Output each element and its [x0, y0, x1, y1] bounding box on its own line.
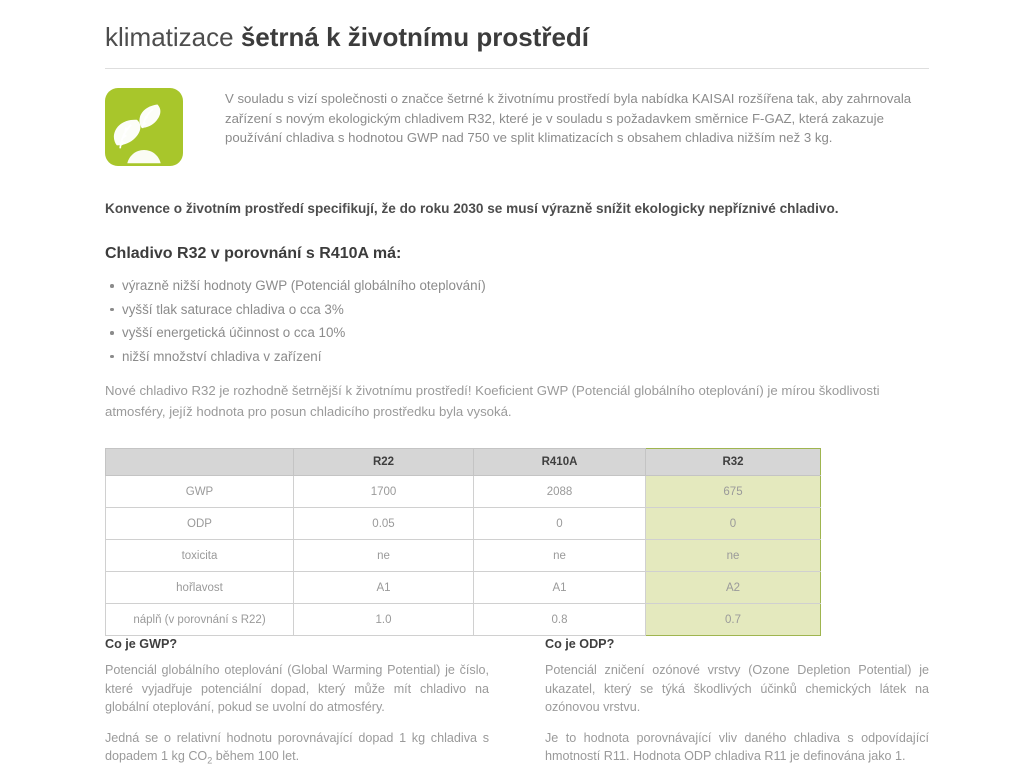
page-root: klimatizace šetrná k životnímu prostředí…: [0, 0, 1024, 768]
convention-statement: Konvence o životním prostředí specifikuj…: [105, 199, 929, 219]
page-header: klimatizace šetrná k životnímu prostředí: [105, 20, 929, 54]
cell-r22: 1700: [294, 476, 474, 508]
page-title-light: klimatizace: [105, 22, 241, 52]
page-title-bold: šetrná k životnímu prostředí: [241, 22, 589, 52]
leaf-icon: [105, 88, 183, 166]
definition-p2-pre: Je to hodnota porovnávající vliv daného …: [545, 731, 929, 764]
cell-r32: 0.7: [646, 604, 821, 636]
list-item: výrazně nižší hodnoty GWP (Potenciál glo…: [105, 274, 705, 298]
cell-r32: 675: [646, 476, 821, 508]
definition-odp: Co je ODP? Potenciál zničení ozónové vrs…: [545, 636, 929, 770]
definition-heading: Co je ODP?: [545, 636, 929, 652]
cell-r32: A2: [646, 572, 821, 604]
lead-paragraph: Nové chladivo R32 je rozhodně šetrnější …: [105, 381, 929, 422]
definition-p2-post: během 100 let.: [212, 749, 299, 763]
cell-r22: ne: [294, 540, 474, 572]
table-row: toxicita ne ne ne: [106, 540, 821, 572]
cell-r22: 0.05: [294, 508, 474, 540]
column-header-r22: R22: [294, 449, 474, 476]
cell-r410a: 2088: [474, 476, 646, 508]
row-label: hořlavost: [106, 572, 294, 604]
cell-r32: 0: [646, 508, 821, 540]
cell-r410a: ne: [474, 540, 646, 572]
row-label: ODP: [106, 508, 294, 540]
cell-r32: ne: [646, 540, 821, 572]
definition-paragraph-1: Potenciál zničení ozónové vrstvy (Ozone …: [545, 661, 929, 717]
table-row: hořlavost A1 A1 A2: [106, 572, 821, 604]
table-row: náplň (v porovnání s R22) 1.0 0.8 0.7: [106, 604, 821, 636]
list-item: nižší množství chladiva v zařízení: [105, 345, 705, 369]
table-row: GWP 1700 2088 675: [106, 476, 821, 508]
definition-paragraph-2: Jedná se o relativní hodnotu porovnávají…: [105, 729, 489, 770]
definitions-section: Co je GWP? Potenciál globálního oteplová…: [105, 636, 929, 770]
title-divider: [105, 68, 929, 69]
row-label: náplň (v porovnání s R22): [106, 604, 294, 636]
comparison-bullet-list: výrazně nižší hodnoty GWP (Potenciál glo…: [105, 274, 705, 368]
table-header-row: R22 R410A R32: [106, 449, 821, 476]
definition-heading: Co je GWP?: [105, 636, 489, 652]
definition-paragraph-2: Je to hodnota porovnávající vliv daného …: [545, 729, 929, 770]
cell-r410a: 0: [474, 508, 646, 540]
cell-r410a: A1: [474, 572, 646, 604]
comparison-heading: Chladivo R32 v porovnání s R410A má:: [105, 243, 401, 265]
cell-r410a: 0.8: [474, 604, 646, 636]
row-label: toxicita: [106, 540, 294, 572]
column-header-r32: R32: [646, 449, 821, 476]
row-label: GWP: [106, 476, 294, 508]
page-title: klimatizace šetrná k životnímu prostředí: [105, 20, 929, 54]
list-item: vyšší energetická účinnost o cca 10%: [105, 321, 705, 345]
definition-paragraph-1: Potenciál globálního oteplování (Global …: [105, 661, 489, 717]
refrigerant-comparison-table: R22 R410A R32 GWP 1700 2088 675 ODP 0.05…: [105, 448, 820, 636]
table-row: ODP 0.05 0 0: [106, 508, 821, 540]
intro-paragraph: V souladu s vizí společnosti o značce še…: [225, 89, 925, 148]
definition-gwp: Co je GWP? Potenciál globálního oteplová…: [105, 636, 489, 770]
column-header-r410a: R410A: [474, 449, 646, 476]
list-item: vyšší tlak saturace chladiva o cca 3%: [105, 298, 705, 322]
cell-r22: 1.0: [294, 604, 474, 636]
column-header-blank: [106, 449, 294, 476]
cell-r22: A1: [294, 572, 474, 604]
